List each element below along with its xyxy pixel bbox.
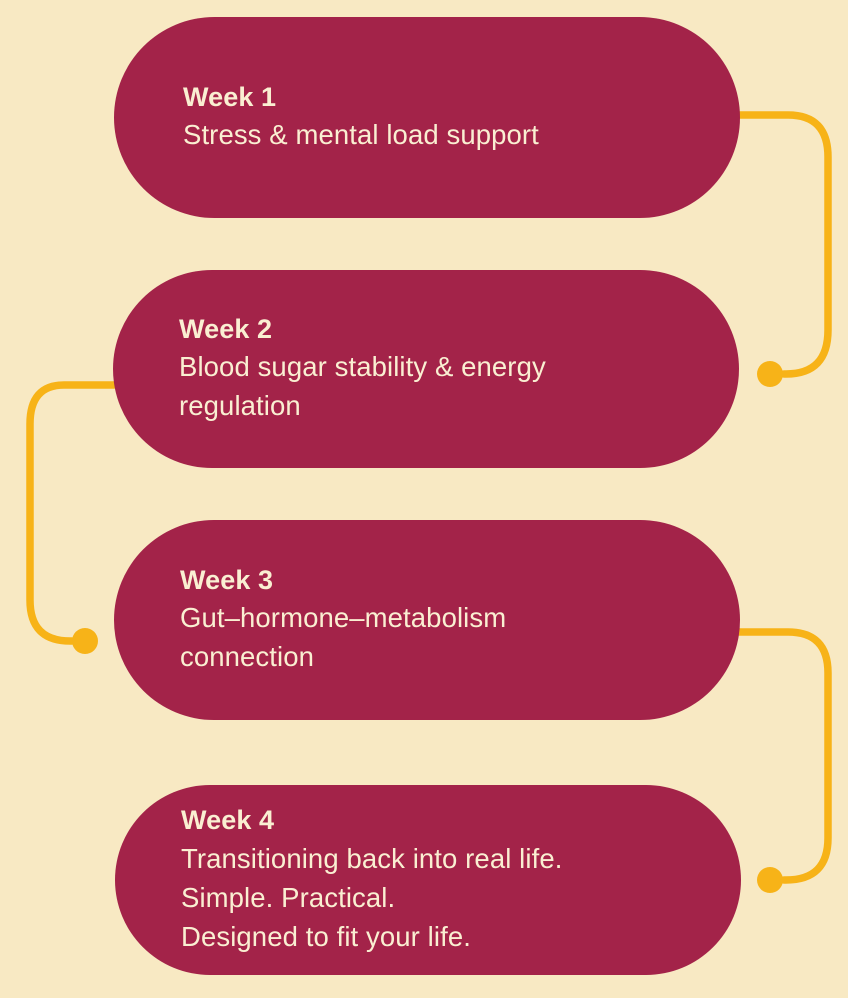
week-card-2-body-line-2: regulation [179,386,673,425]
week-card-4-body-line-2: Simple. Practical. [181,878,675,917]
week-card-3[interactable]: Week 3 Gut–hormone–metabolism connection [114,520,740,720]
week-card-4-title: Week 4 [181,804,675,837]
week-card-2-body: Blood sugar stability & energy regulatio… [179,347,673,425]
connector-line-week3-week4 [739,632,828,880]
connector-week3-to-week4 [739,632,828,893]
connector-week2-to-week3 [30,385,114,654]
week-card-1[interactable]: Week 1 Stress & mental load support [114,17,740,218]
connector-line-week2-week3 [30,385,114,641]
week-card-4-body: Transitioning back into real life. Simpl… [181,839,675,956]
week-card-4[interactable]: Week 4 Transitioning back into real life… [115,785,741,975]
week-card-2[interactable]: Week 2 Blood sugar stability & energy re… [113,270,739,468]
week-card-1-title: Week 1 [183,81,670,114]
week-card-4-body-line-1: Transitioning back into real life. [181,839,675,878]
week-card-3-body-line-1: Gut–hormone–metabolism [180,598,674,637]
week-roadmap-diagram: Week 1 Stress & mental load support Week… [0,0,848,998]
week-card-2-body-line-1: Blood sugar stability & energy [179,347,673,386]
week-card-1-body-line-1: Stress & mental load support [183,115,670,154]
week-card-3-title: Week 3 [180,564,674,597]
connector-line-week1-week2 [739,115,828,374]
connector-endpoint-dot-week3 [72,628,98,654]
connector-endpoint-dot-week4 [757,867,783,893]
week-card-1-body: Stress & mental load support [183,115,670,154]
connector-week1-to-week2 [739,115,828,387]
connector-endpoint-dot-week2 [757,361,783,387]
week-card-4-body-line-3: Designed to fit your life. [181,917,675,956]
week-card-3-body-line-2: connection [180,637,674,676]
week-card-2-title: Week 2 [179,313,673,346]
week-card-3-body: Gut–hormone–metabolism connection [180,598,674,676]
